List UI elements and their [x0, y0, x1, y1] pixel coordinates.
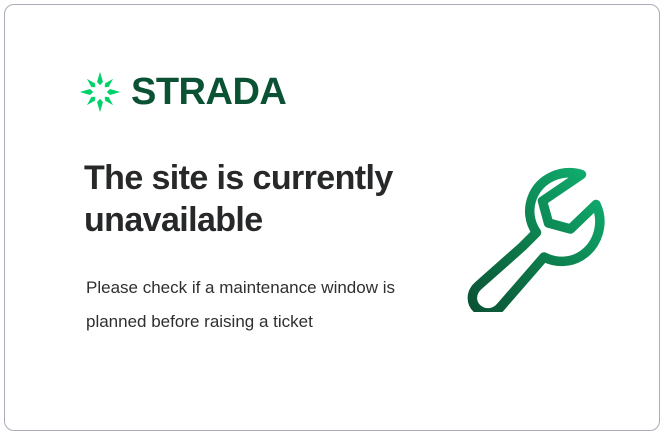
brand-wordmark: STRADA — [131, 73, 286, 111]
page-title: The site is currently unavailable — [84, 157, 414, 241]
brand-logo: STRADA — [79, 71, 286, 113]
wrench-icon — [472, 173, 599, 312]
maintenance-illustration — [460, 157, 620, 312]
status-card: STRADA The site is currently unavailable… — [4, 4, 660, 431]
strada-asterisk-icon — [79, 71, 121, 113]
page-description: Please check if a maintenance window is … — [86, 271, 396, 339]
error-page: STRADA The site is currently unavailable… — [0, 0, 666, 436]
